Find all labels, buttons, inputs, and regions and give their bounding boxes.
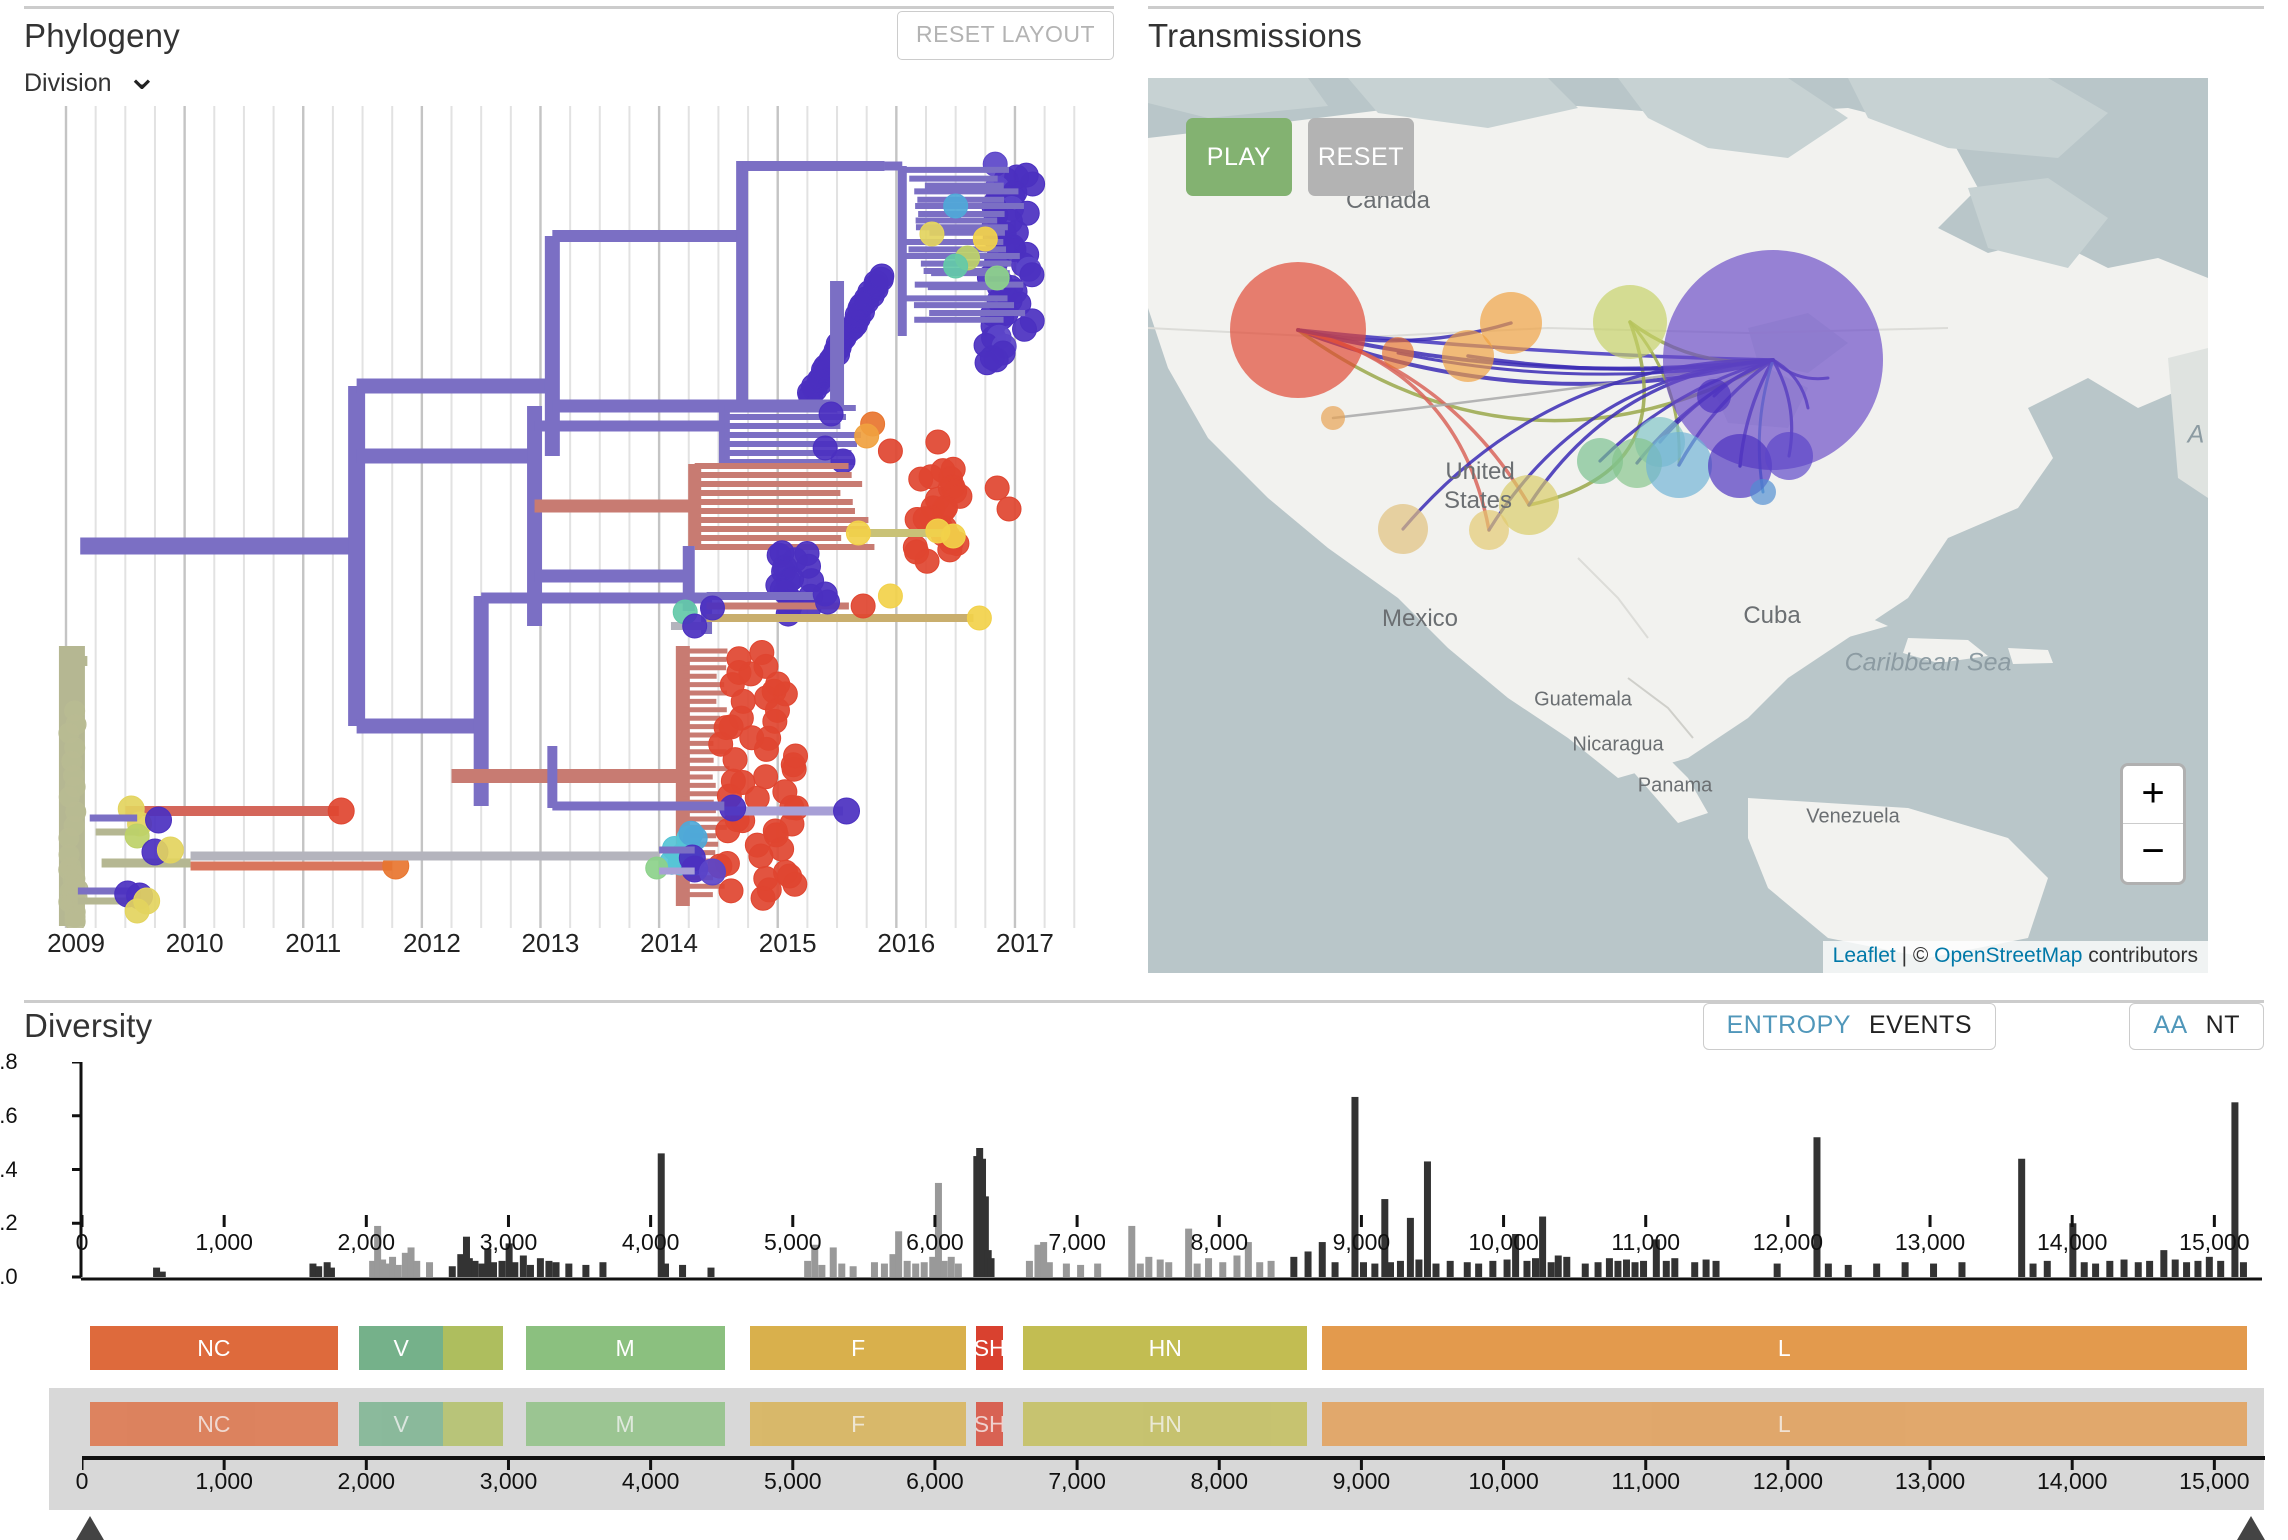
map-attribution: Leaflet | © OpenStreetMap contributors [1823,941,2208,973]
openstreetmap-link[interactable]: OpenStreetMap [1934,944,2082,967]
year-tick-2017: 2017 [996,928,1054,959]
x-tick-5000: 5,000 [764,1229,822,1256]
tab-entropy[interactable]: ENTROPY [1727,1011,1851,1039]
attribution-copyright: © [1913,944,1934,967]
zoom-in-button[interactable]: + [2123,766,2183,824]
tab-nt[interactable]: NT [2206,1011,2240,1039]
diversity-title: Diversity [24,1007,152,1045]
nav-genome-annotation[interactable]: NCVMFSHHNL [82,1402,2282,1446]
year-tick-2015: 2015 [759,928,817,959]
gene-nc[interactable]: NC [90,1326,338,1370]
tab-aa[interactable]: AA [2153,1011,2187,1039]
diversity-header: Diversity ENTROPYEVENTS AANT [24,1003,2264,1057]
year-tick-2013: 2013 [522,928,580,959]
nav-x-tick-3000: 3,000 [480,1468,538,1495]
nav-x-tick-13000: 13,000 [1895,1468,1965,1495]
x-tick-8000: 8,000 [1190,1229,1248,1256]
gene-label: SH [976,1335,1003,1362]
gene-sh[interactable]: SH [976,1402,1003,1446]
nav-x-tick-10000: 10,000 [1468,1468,1538,1495]
nav-x-tick-14000: 14,000 [2037,1468,2107,1495]
y-tick-0.6: 0.6 [0,1103,18,1129]
gene-m[interactable]: M [526,1402,725,1446]
gene-f[interactable]: F [750,1402,966,1446]
phylogeny-time-axis: 200920102011201220132014201520162017 [48,928,1114,962]
gene-label: M [615,1335,634,1362]
gene-f[interactable]: F [750,1326,966,1370]
gene-m[interactable]: M [526,1326,725,1370]
gene-l[interactable]: L [1322,1402,2247,1446]
metric-toggle-group[interactable]: ENTROPYEVENTS [1703,1003,1996,1050]
gene-unnamed[interactable] [443,1402,503,1446]
phylogeny-tree-svg[interactable] [48,106,1114,928]
x-tick-7000: 7,000 [1048,1229,1106,1256]
gene-sh[interactable]: SH [976,1326,1003,1370]
phylogeny-panel: Phylogeny RESET LAYOUT Division ⌄ 200920… [24,6,1114,956]
year-tick-2016: 2016 [877,928,935,959]
gene-nc[interactable]: NC [90,1402,338,1446]
y-tick-0.0: 0.0 [0,1264,18,1290]
attribution-separator: | [1896,944,1913,967]
x-tick-15000: 15,000 [2179,1229,2249,1256]
gene-v[interactable]: V [359,1326,443,1370]
map-transmission-arcs [1148,78,2208,973]
x-tick-4000: 4,000 [622,1229,680,1256]
x-tick-11000: 11,000 [1611,1229,1680,1256]
year-tick-2014: 2014 [640,928,698,959]
x-tick-12000: 12,000 [1753,1229,1823,1256]
gene-label: V [393,1411,408,1438]
leaflet-link[interactable]: Leaflet [1833,944,1896,967]
play-button[interactable]: PLAY [1186,118,1292,196]
genome-annotation-bar[interactable]: NCVMFSHHNL [82,1326,2282,1370]
x-tick-0: 0 [76,1229,89,1256]
map-zoom-controls[interactable]: + − [2120,763,2186,885]
phylogeny-title: Phylogeny [24,17,180,55]
gene-label: HN [1149,1411,1182,1438]
nav-x-tick-8000: 8,000 [1190,1468,1248,1495]
gene-l[interactable]: L [1322,1326,2247,1370]
gene-label: M [615,1411,634,1438]
transmissions-title: Transmissions [1148,17,1362,55]
gene-hn[interactable]: HN [1023,1326,1307,1370]
nav-x-tick-5000: 5,000 [764,1468,822,1495]
color-by-label: Division [24,69,112,97]
nav-x-tick-4000: 4,000 [622,1468,680,1495]
nav-x-tick-11000: 11,000 [1611,1468,1680,1495]
gene-label: NC [197,1411,230,1438]
app-root: Phylogeny RESET LAYOUT Division ⌄ 200920… [0,0,2288,1540]
nav-x-tick-7000: 7,000 [1048,1468,1106,1495]
gene-hn[interactable]: HN [1023,1402,1307,1446]
map-reset-button[interactable]: RESET [1308,118,1414,196]
genome-navigation-bar[interactable]: NCVMFSHHNL 01,0002,0003,0004,0005,0006,0… [49,1388,2264,1510]
attribution-contributors: contributors [2082,944,2198,967]
x-tick-13000: 13,000 [1895,1229,1965,1256]
nav-x-tick-0: 0 [76,1468,89,1495]
zoom-out-button[interactable]: − [2123,824,2183,882]
gene-v[interactable]: V [359,1402,443,1446]
nav-axis: 01,0002,0003,0004,0005,0006,0007,0008,00… [82,1456,2282,1498]
entropy-x-axis: 01,0002,0003,0004,0005,0006,0007,0008,00… [24,1215,2224,1261]
transmissions-map[interactable]: CanadaUnitedStatesMexicoCubaGuatemalaNic… [1148,78,2208,973]
nav-x-tick-9000: 9,000 [1333,1468,1391,1495]
x-tick-14000: 14,000 [2037,1229,2107,1256]
unit-toggle-group[interactable]: AANT [2129,1003,2264,1050]
year-tick-2010: 2010 [166,928,224,959]
year-tick-2009: 2009 [47,928,105,959]
nav-x-tick-12000: 12,000 [1753,1468,1823,1495]
x-tick-9000: 9,000 [1333,1229,1391,1256]
reset-layout-button[interactable]: RESET LAYOUT [897,11,1114,60]
diversity-panel: Diversity ENTROPYEVENTS AANT 0.00.20.40.… [24,1000,2264,1540]
gene-label: L [1778,1335,1791,1362]
brush-handle-left[interactable] [76,1516,104,1540]
gene-label: V [393,1335,408,1362]
color-by-dropdown[interactable]: Division ⌄ [24,69,1114,103]
tab-events[interactable]: EVENTS [1869,1011,1972,1039]
phylogeny-tree[interactable] [48,106,1114,928]
transmissions-panel: Transmissions CanadaUnitedStatesMexicoCu… [1148,6,2264,966]
year-tick-2012: 2012 [403,928,461,959]
gene-label: L [1778,1411,1791,1438]
brush-handle-right[interactable] [2237,1516,2265,1540]
gene-label: F [851,1335,865,1362]
nav-x-tick-2000: 2,000 [338,1468,396,1495]
gene-label: SH [976,1411,1003,1438]
gene-label: NC [197,1335,230,1362]
x-tick-10000: 10,000 [1468,1229,1538,1256]
gene-label: HN [1149,1335,1182,1362]
nav-x-tick-1000: 1,000 [195,1468,253,1495]
gene-unnamed[interactable] [443,1326,503,1370]
transmissions-header: Transmissions [1148,9,2264,63]
nav-x-tick-15000: 15,000 [2179,1468,2249,1495]
gene-label: F [851,1411,865,1438]
x-tick-2000: 2,000 [338,1229,396,1256]
y-tick-0.2: 0.2 [0,1210,18,1236]
y-tick-0.4: 0.4 [0,1157,18,1183]
year-tick-2011: 2011 [285,928,341,959]
y-tick-0.8: 0.8 [0,1049,18,1075]
x-tick-1000: 1,000 [195,1229,253,1256]
phylogeny-header: Phylogeny RESET LAYOUT [24,9,1114,63]
x-tick-3000: 3,000 [480,1229,538,1256]
x-tick-6000: 6,000 [906,1229,964,1256]
nav-x-tick-6000: 6,000 [906,1468,964,1495]
